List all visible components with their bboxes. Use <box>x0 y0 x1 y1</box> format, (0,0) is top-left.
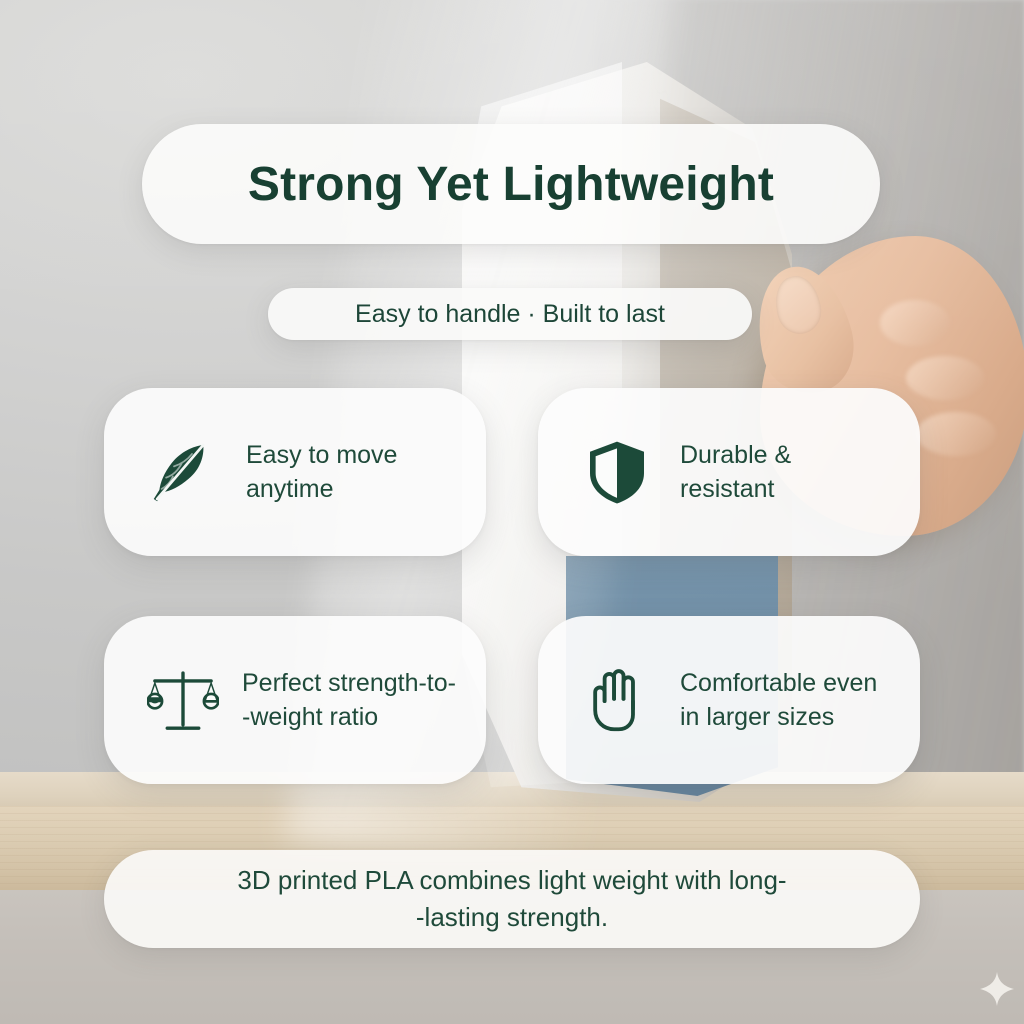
page-subtitle: Easy to handle · Built to last <box>355 300 665 329</box>
feature-card-strength-to-weight[interactable]: Perfect strength-to- -weight ratio <box>104 616 486 784</box>
footer-text: 3D printed PLA combines light weight wit… <box>237 862 786 936</box>
subtitle-pill: Easy to handle · Built to last <box>268 288 752 340</box>
feature-card-easy-to-move[interactable]: Easy to move anytime <box>104 388 486 556</box>
footer-pill: 3D printed PLA combines light weight wit… <box>104 850 920 948</box>
overlay-layer: Strong Yet Lightweight Easy to handle · … <box>0 0 1024 1024</box>
balance-scale-icon <box>146 663 220 737</box>
shield-icon <box>580 435 654 509</box>
sparkle-icon <box>980 972 1014 1006</box>
page-title: Strong Yet Lightweight <box>248 157 774 212</box>
hand-icon <box>580 663 654 737</box>
feature-label: Comfortable even in larger sizes <box>680 666 894 735</box>
infographic-canvas: Strong Yet Lightweight Easy to handle · … <box>0 0 1024 1024</box>
feature-label: Perfect strength-to- -weight ratio <box>242 666 460 735</box>
title-pill: Strong Yet Lightweight <box>142 124 880 244</box>
feature-card-comfortable[interactable]: Comfortable even in larger sizes <box>538 616 920 784</box>
feature-label: Durable & resistant <box>680 438 791 507</box>
feather-icon <box>146 435 220 509</box>
feature-card-durable[interactable]: Durable & resistant <box>538 388 920 556</box>
feature-label: Easy to move anytime <box>246 438 397 507</box>
